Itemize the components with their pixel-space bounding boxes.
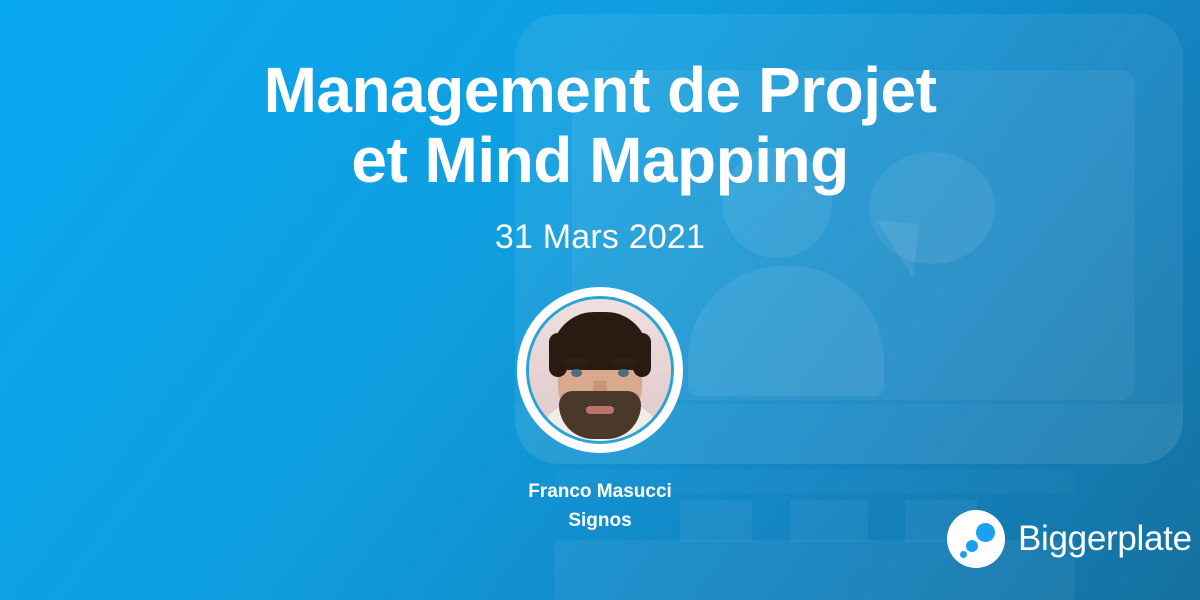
logo-dot-small (960, 551, 967, 558)
portrait-eyebrow-left (565, 359, 589, 365)
logo-dot-large (976, 523, 995, 542)
event-date: 31 Mars 2021 (495, 218, 705, 257)
biggerplate-bubbles-icon (947, 510, 1005, 568)
avatar-photo (526, 296, 674, 444)
biggerplate-logo: Biggerplate (947, 510, 1192, 568)
page-title-line-1: Management de Projet (120, 56, 1080, 126)
portrait-eye-left (571, 369, 582, 377)
biggerplate-wordmark: Biggerplate (1018, 519, 1192, 559)
speaker-name: Franco Masucci (0, 477, 1200, 506)
avatar (517, 287, 683, 453)
page-title: Management de Projet et Mind Mapping (120, 56, 1080, 196)
portrait-hair-left (549, 333, 567, 377)
portrait-eyebrow-right (611, 359, 635, 365)
portrait-mouth (586, 406, 614, 414)
portrait-eye-right (618, 369, 629, 377)
webinar-title-slide: Management de Projet et Mind Mapping 31 … (0, 0, 1200, 600)
page-title-line-2: et Mind Mapping (120, 126, 1080, 196)
portrait-hair-right (633, 333, 651, 377)
logo-dot-medium (966, 540, 978, 552)
